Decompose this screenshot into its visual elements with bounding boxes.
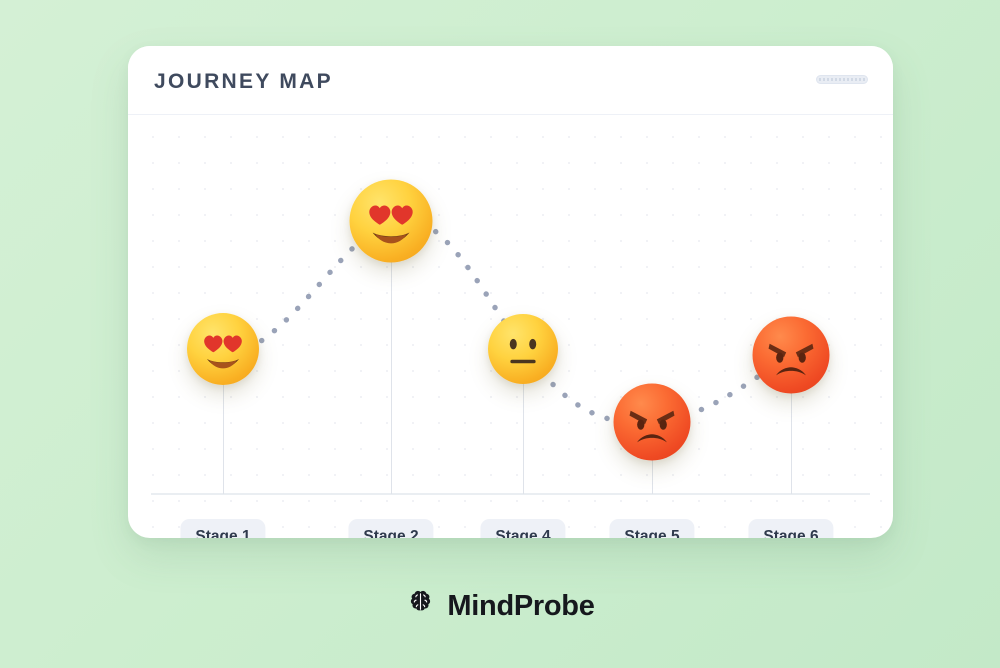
heart-eyes-face-icon xyxy=(187,313,259,385)
brand-lockup: MindProbe xyxy=(0,588,1000,624)
stage-label-6[interactable]: Stage 6 xyxy=(748,519,833,538)
stage-node-5[interactable] xyxy=(614,384,691,461)
brand-name: MindProbe xyxy=(447,590,594,623)
page-title: JOURNEY MAP xyxy=(154,70,333,94)
journey-map-card: JOURNEY MAP Stage xyxy=(128,46,893,538)
stage-label-1[interactable]: Stage 1 xyxy=(180,519,265,538)
stage-label-5[interactable]: Stage 5 xyxy=(609,519,694,538)
card-header: JOURNEY MAP xyxy=(128,46,893,115)
brain-icon xyxy=(405,588,436,624)
angry-face-icon xyxy=(614,384,691,461)
heart-eyes-face-icon xyxy=(350,180,433,263)
neutral-face-icon xyxy=(488,314,558,384)
stage-label-2[interactable]: Stage 2 xyxy=(348,519,433,538)
journey-plot-area: Stage 1 Stage 2 Sta xyxy=(128,115,893,538)
header-placeholder-pill xyxy=(816,75,868,84)
stage-node-4[interactable] xyxy=(488,314,558,384)
stage-node-1[interactable] xyxy=(187,313,259,385)
stage-node-2[interactable] xyxy=(350,180,433,263)
stage-node-6[interactable] xyxy=(753,317,830,394)
stage-label-4[interactable]: Stage 4 xyxy=(480,519,565,538)
angry-face-icon xyxy=(753,317,830,394)
